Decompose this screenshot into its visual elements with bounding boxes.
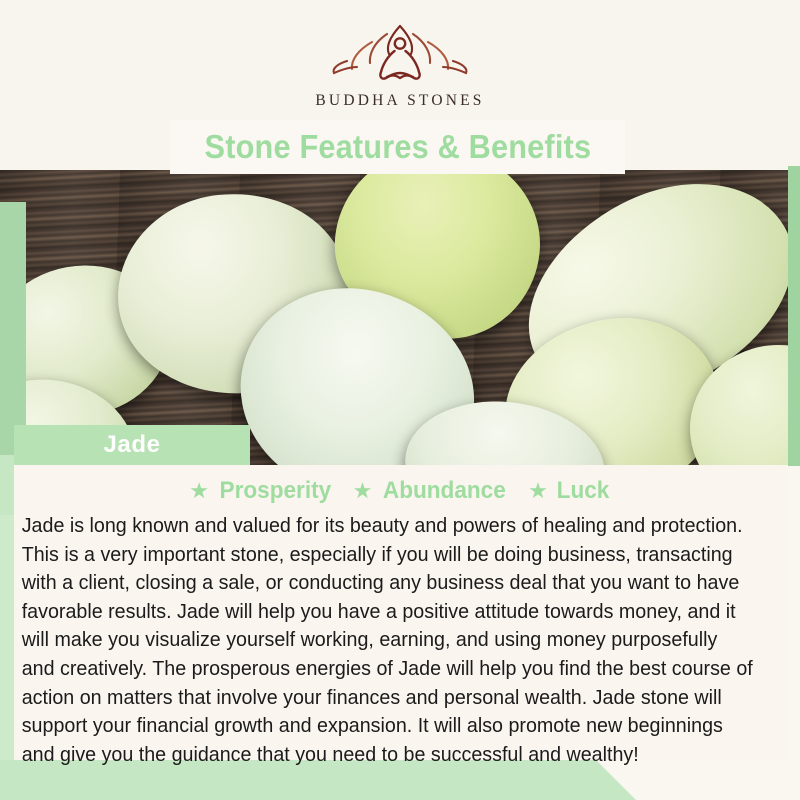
benefit-label: Luck xyxy=(556,477,609,505)
stone-name-label: Jade xyxy=(103,431,160,459)
benefit-label: Abundance xyxy=(383,477,506,505)
benefit-item: ★ Prosperity xyxy=(189,477,334,505)
page-title-text: Stone Features & Benefits xyxy=(204,128,591,166)
page-title: Stone Features & Benefits xyxy=(170,120,625,174)
star-icon: ★ xyxy=(353,480,373,502)
benefits-row: ★ Prosperity ★ Abundance ★ Luck xyxy=(14,465,786,505)
benefit-item: ★ Luck xyxy=(528,477,611,505)
infographic-card: BUDDHA STONES Stone Features & Benefits … xyxy=(0,0,800,800)
decor-left-edge-bottom xyxy=(0,515,14,760)
brand-name: BUDDHA STONES xyxy=(0,92,800,110)
lotus-meditation-icon xyxy=(325,20,475,86)
benefit-item: ★ Abundance xyxy=(353,477,510,505)
brand-logo: BUDDHA STONES xyxy=(0,20,800,110)
stone-description: Jade is long known and valued for its be… xyxy=(14,512,759,769)
stone-photo xyxy=(0,170,800,465)
star-icon: ★ xyxy=(189,480,209,502)
decor-right-strip xyxy=(788,166,800,466)
star-icon: ★ xyxy=(528,480,548,502)
benefit-label: Prosperity xyxy=(219,477,331,505)
content-panel: ★ Prosperity ★ Abundance ★ Luck Jade is … xyxy=(14,465,786,760)
decor-left-strip xyxy=(0,202,26,457)
stone-name-badge: Jade xyxy=(14,425,250,465)
